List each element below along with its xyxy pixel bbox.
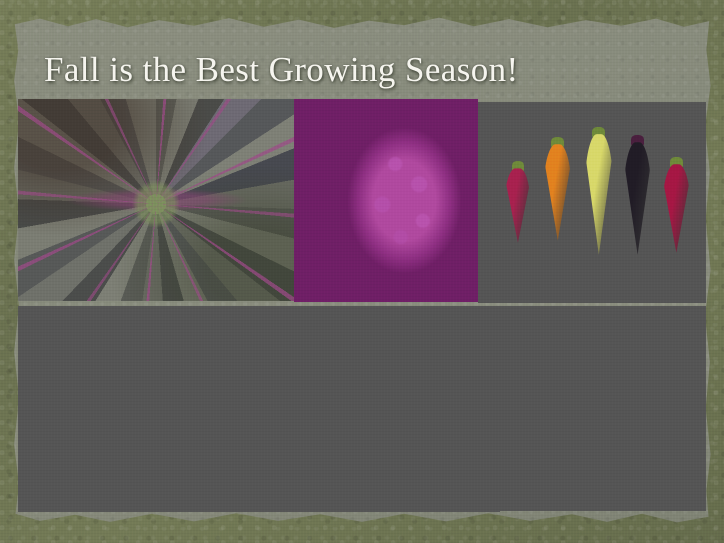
photo-grid <box>18 99 706 512</box>
photo-garlic[interactable] <box>500 306 706 511</box>
cauliflower-image <box>294 99 478 302</box>
photo-cauliflower[interactable] <box>294 99 478 302</box>
photo-lettuce[interactable] <box>249 306 500 512</box>
photo-kale[interactable] <box>18 99 294 301</box>
carrots-image <box>478 102 706 303</box>
lettuce-image <box>249 306 500 512</box>
carrot-magenta <box>505 168 530 242</box>
carrot-orange <box>544 144 571 240</box>
page-title: Fall is the Best Growing Season! <box>44 50 519 90</box>
kale-image <box>18 99 294 301</box>
carrot-yellow <box>585 134 612 255</box>
potatoes-image <box>18 306 249 512</box>
garlic-image <box>500 306 706 511</box>
photo-potatoes[interactable] <box>18 306 249 512</box>
carrot-black <box>624 142 651 255</box>
slide-canvas: Fall is the Best Growing Season! <box>0 0 724 543</box>
photo-carrots[interactable] <box>478 102 706 303</box>
carrot-red <box>663 164 690 252</box>
